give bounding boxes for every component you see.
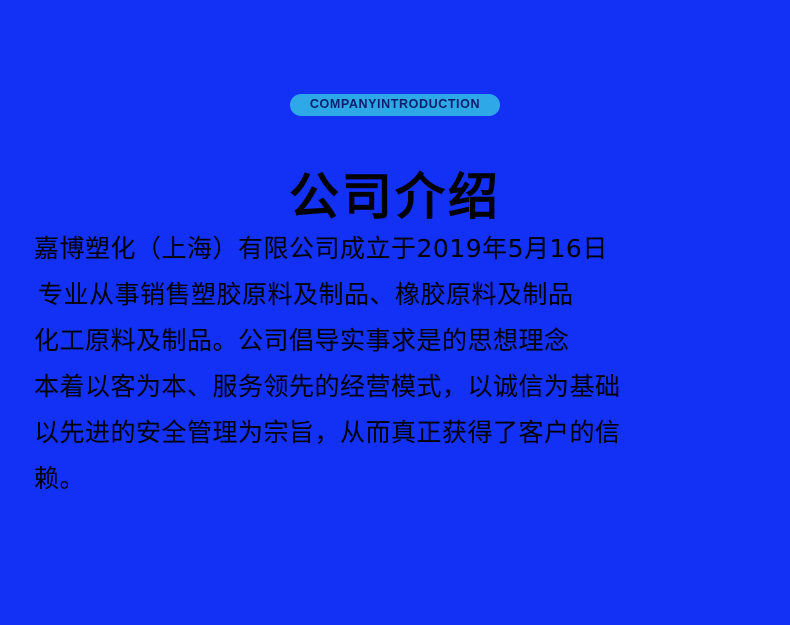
- body-line: 本着以客为本、服务领先的经营模式，以诚信为基础: [34, 364, 760, 410]
- body-line: 化工原料及制品。公司倡导实事求是的思想理念: [34, 318, 760, 364]
- company-introduction-page: COMPANYINTRODUCTION 公司介绍 嘉博塑化（上海）有限公司成立于…: [0, 0, 790, 625]
- body-line: 专业从事销售塑胶原料及制品、橡胶原料及制品: [34, 272, 760, 318]
- body-line: 以先进的安全管理为宗旨，从而真正获得了客户的信: [34, 410, 760, 456]
- badge-row: COMPANYINTRODUCTION: [0, 94, 790, 116]
- body-line: 赖。: [34, 456, 760, 502]
- body-paragraph: 嘉博塑化（上海）有限公司成立于2019年5月16日 专业从事销售塑胶原料及制品、…: [34, 226, 760, 502]
- body-line: 嘉博塑化（上海）有限公司成立于2019年5月16日: [34, 226, 760, 272]
- section-eyebrow-badge: COMPANYINTRODUCTION: [290, 94, 500, 116]
- page-title: 公司介绍: [289, 170, 501, 225]
